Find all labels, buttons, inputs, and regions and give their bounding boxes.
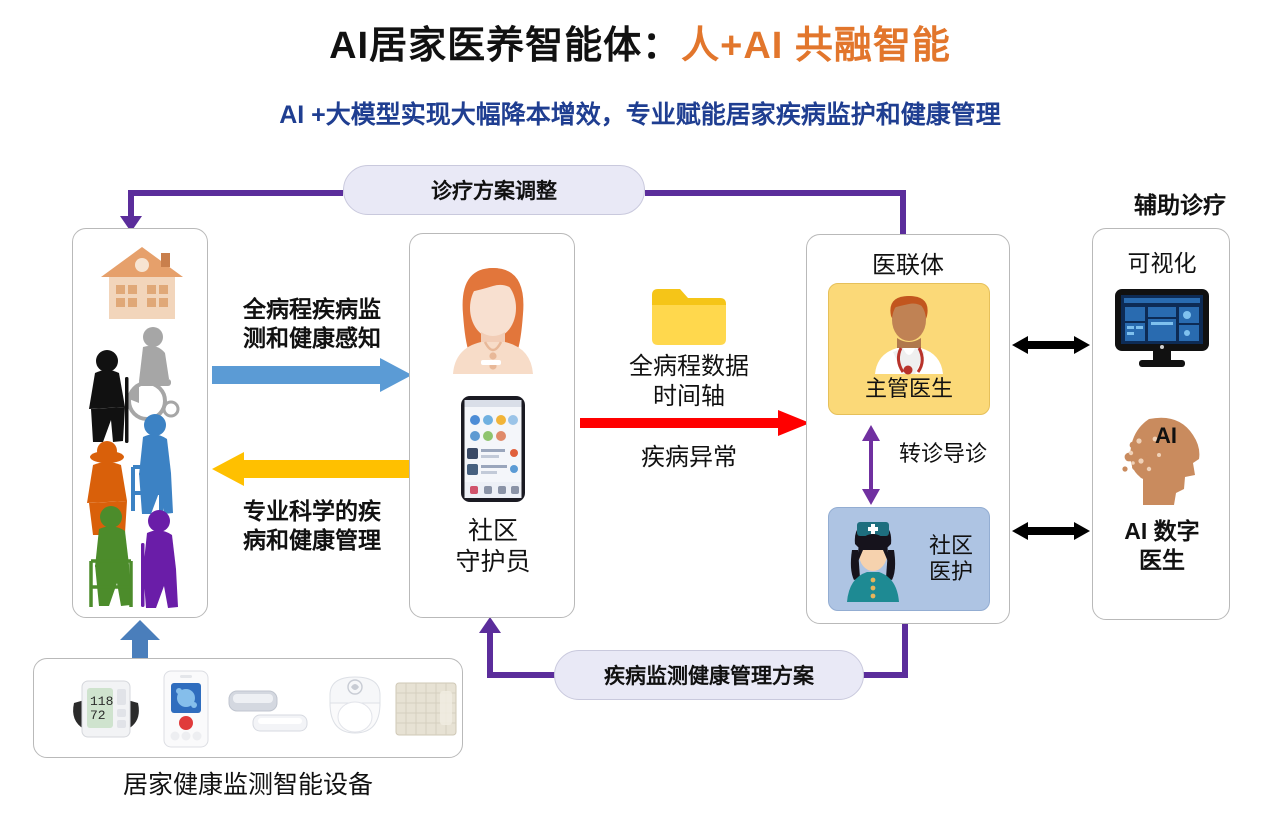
page-title-black: AI居家医养智能体：: [329, 25, 681, 67]
card-assisted-diagnosis[interactable]: 可视化: [1092, 228, 1230, 620]
card-home-elderly[interactable]: [72, 228, 208, 618]
woman-avatar-icon: [445, 256, 541, 374]
ai-doctor-label: AI 数字 医生: [1093, 517, 1231, 575]
arrow-guardian-to-home-icon: [212, 452, 412, 486]
visualization-label: 可视化: [1093, 249, 1231, 278]
connector-top-left-horizontal: [128, 190, 343, 196]
card-medical-alliance[interactable]: 医联体 主管医生 转诊导诊: [806, 234, 1010, 624]
page-title: AI居家医养智能体：人+AI 共融智能: [0, 14, 1280, 69]
chip-community-nurse[interactable]: 社区 医护: [828, 507, 990, 611]
pill-bottom-label: 疾病监测健康管理方案: [604, 660, 814, 690]
arrow-alliance-to-visualization-icon: [1012, 334, 1090, 356]
connector-alliance-top-vertical: [900, 190, 906, 235]
arrow-devices-to-home-icon: [118, 620, 162, 660]
blood-pressure-monitor-icon: 118 72: [70, 675, 142, 743]
folder-icon: [650, 285, 728, 347]
smartphone-app-icon: [461, 396, 525, 502]
sleep-mat-sensor-icon: [396, 683, 456, 735]
connector-bottom-arrowhead-icon: [479, 617, 501, 633]
door-contact-sensor-icon: [227, 685, 309, 737]
pill-disease-monitoring-plan[interactable]: 疾病监测健康管理方案: [554, 650, 864, 700]
arrow-home-to-guardian-icon: [212, 358, 412, 392]
monitor-dashboard-icon: [1115, 289, 1209, 367]
assist-section-heading: 辅助诊疗: [1090, 186, 1270, 220]
connector-bottom-left-vertical: [487, 632, 493, 678]
arrow-alliance-to-ai-doctor-icon: [1012, 520, 1090, 542]
label-referral: 转诊导诊: [885, 440, 1001, 468]
flow-label-home-to-guardian: 全病程疾病监 测和健康感知: [212, 295, 412, 353]
elderly-silhouettes-icon: [81, 321, 201, 611]
arrow-referral-icon: [861, 425, 881, 505]
devices-caption: 居家健康监测智能设备: [33, 770, 463, 801]
card-community-guardian[interactable]: 社区 守护员: [409, 233, 575, 618]
nurse-icon: [839, 516, 907, 602]
page-subtitle: AI +大模型实现大幅降本增效，专业赋能居家疾病监护和健康管理: [0, 95, 1280, 131]
nurse-label: 社区 医护: [913, 533, 989, 586]
svg-text:118: 118: [90, 694, 113, 709]
pill-treatment-plan-adjustment[interactable]: 诊疗方案调整: [343, 165, 645, 215]
card-home-devices[interactable]: 118 72: [33, 658, 463, 758]
doctor-icon: [863, 290, 955, 374]
ai-head-icon: AI: [1115, 413, 1211, 505]
alliance-title: 医联体: [807, 245, 1009, 280]
connector-top-left-vertical: [128, 190, 134, 218]
connector-top-right-horizontal: [645, 190, 906, 196]
doctor-label: 主管医生: [829, 376, 989, 402]
page-title-orange: 人+AI 共融智能: [681, 25, 951, 67]
house-icon: [99, 243, 185, 321]
ai-head-text: AI: [1155, 423, 1177, 448]
motion-sensor-icon: [324, 673, 386, 745]
flow-label-data-timeline: 全病程数据 时间轴: [598, 352, 780, 412]
connector-alliance-bottom-vertical: [902, 622, 908, 678]
svg-text:72: 72: [90, 708, 106, 723]
flow-label-guardian-to-home: 专业科学的疾 病和健康管理: [212, 497, 412, 555]
arrow-guardian-to-alliance-icon: [580, 408, 810, 438]
flow-label-abnormality: 疾病异常: [598, 443, 780, 473]
connector-bottom-right-horizontal: [860, 672, 908, 678]
chip-attending-doctor[interactable]: 主管医生: [828, 283, 990, 415]
emergency-call-device-icon: [162, 671, 210, 747]
guardian-caption: 社区 守护员: [410, 516, 576, 579]
pill-top-label: 诊疗方案调整: [431, 175, 557, 205]
